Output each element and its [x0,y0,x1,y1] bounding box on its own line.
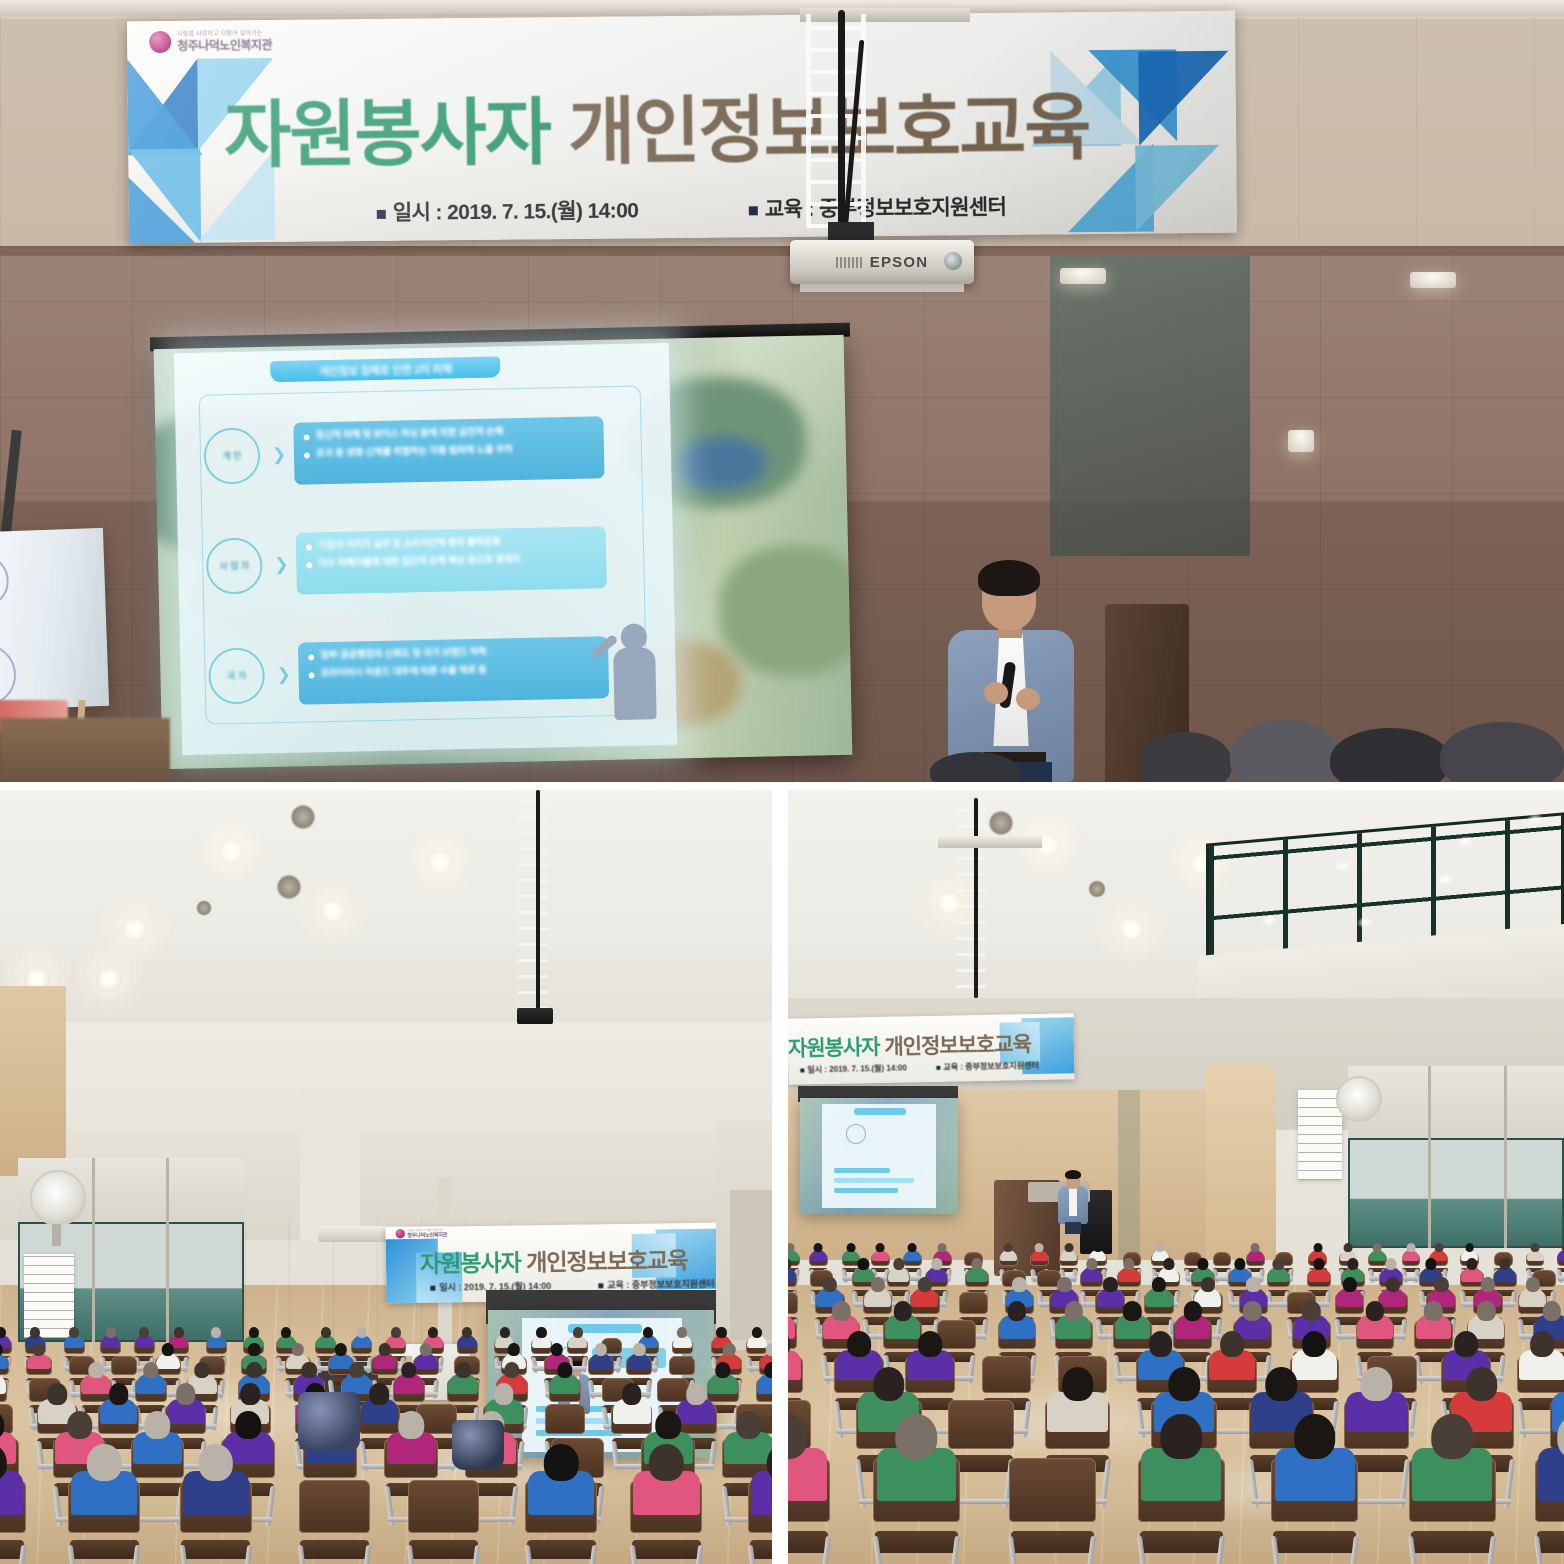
presenter-shirt [1069,1188,1077,1216]
bullet-dot-icon [308,654,314,660]
logo-mark-icon [149,31,171,53]
bullet-square-icon [800,1068,804,1072]
ceiling-soffit [0,0,1564,16]
chevron-right-icon: ❯ [272,445,287,465]
door-panel [730,1190,772,1340]
person-head [655,1411,681,1439]
person [788,1414,827,1498]
chair-seat [1411,1531,1494,1553]
bullet-square-icon [430,1286,435,1291]
person [966,1258,988,1281]
person-head [1543,1301,1561,1321]
panel-hall-wide-view-right: 자원봉사자 개인정보보호교육 일시 : 2019. 7. 15.(월) 14:0… [788,790,1564,1564]
chair-seat [1011,1531,1094,1553]
person-head [1273,1258,1284,1270]
panel-gutter-horizontal [0,782,1564,790]
person-head [677,1327,687,1338]
ceiling-downlight-icon [427,850,453,876]
chair-seat [788,1531,828,1553]
banner-place-line: 교육 : 중부정보보호지원센터 [749,191,1007,223]
person [528,1444,594,1514]
person-head [764,1362,772,1379]
person [1357,1301,1392,1338]
person [1267,1258,1289,1281]
person-head [174,1327,184,1338]
person-head [235,1411,261,1439]
person [627,1343,651,1368]
person-head [321,1327,331,1338]
person-head [1366,1301,1384,1321]
person [633,1444,699,1514]
wall-column [1206,1066,1276,1260]
chair [1009,1458,1096,1564]
person-head [455,1362,470,1379]
person-head [1163,1258,1174,1270]
person-head [870,1277,884,1292]
wall-sconce-icon [1060,268,1106,284]
person-head [896,1414,938,1459]
person-torso [0,1374,6,1394]
wall-fan-icon [1336,1076,1382,1122]
person-torso [751,1471,772,1515]
person-head [89,1362,104,1379]
logo-organization-name: 청주나덕노인복지관 [177,39,272,52]
person [1056,1301,1091,1338]
person-head [814,1243,823,1253]
wall-poster [1298,1090,1342,1180]
person-head [1057,1277,1071,1292]
presenter [1056,1170,1090,1232]
hall-window [1348,1138,1564,1248]
person [1047,1367,1107,1431]
person-head [1425,1258,1436,1270]
person-head [462,1327,472,1338]
person-head [1344,1243,1353,1253]
wall-shadow [1118,1090,1140,1260]
person-head [139,1327,149,1338]
slide-bullet-text: 프라이버시 라운드 대두에 따른 수출 애로 등 [320,665,486,680]
slide-group: 사 업 자 ❯ 기업의 이미지 실추 및 소비자단체 등의 불매운동 다수 피해… [178,522,622,623]
person-head [1434,1277,1448,1292]
person [568,1327,587,1347]
person-head [1266,1367,1297,1401]
person [387,1411,436,1463]
ceiling-beam [0,246,1564,256]
slide-group-badge-label: 사 업 자 [219,561,249,572]
person-head [1313,1258,1324,1270]
logo-organization-name: 청주나덕노인복지관 [407,1232,447,1238]
chair-backrest [408,1480,480,1533]
person [1000,1243,1017,1261]
person [757,1362,772,1393]
person-head [893,1301,911,1321]
projector-mount-plate [938,836,1042,848]
wall-fan-icon [30,1170,86,1226]
slide-person-illustration-icon [607,623,665,720]
person-head [370,1383,390,1404]
person-head [1065,1301,1083,1321]
person-head [1385,1258,1396,1270]
person-head [1465,1243,1474,1253]
person-head [240,1383,260,1404]
logo-mark-icon [396,1229,405,1238]
banner-title-green: 자원봉사자 [224,92,551,176]
bullet-square-icon [936,1066,940,1070]
person-head [1012,1277,1026,1292]
person-head [846,1243,855,1253]
person-head [788,1243,795,1253]
slide-group: 개 인 ❯ 정신적 피해 및 보이스 피싱 등에 의한 금전적 손해 유괴 등 … [175,412,619,513]
person-head [199,1444,233,1481]
person [1209,1331,1255,1379]
person [1538,1414,1564,1498]
chair-seat [1273,1531,1356,1553]
person-head [1149,1331,1173,1357]
bullet-square-icon [749,206,758,215]
presenter-hand [1016,688,1040,710]
person-head [1386,1277,1400,1292]
person [64,1327,83,1347]
person [589,1343,613,1368]
person [1275,1414,1355,1498]
bullet-square-icon [598,1283,603,1288]
person-head [1525,1277,1539,1292]
person-head [1201,1277,1215,1292]
organization-logo: 사람을 사랑하고 더불어 살아가는 청주나덕노인복지관 [149,30,272,53]
person [877,1414,957,1498]
person-head [87,1444,121,1481]
person-head [1373,1243,1382,1253]
person-head [823,1277,837,1292]
chair-backrest [299,1480,371,1533]
person-head [1531,1243,1540,1253]
person [101,1327,120,1347]
person [872,1243,889,1261]
person-head [301,1362,316,1379]
person-head [500,1327,510,1338]
person-head [1197,1258,1208,1270]
projector-vent-icon [836,257,862,268]
bullet-dot-icon [304,434,310,440]
person [1031,1243,1048,1261]
person-head [391,1327,401,1338]
chevron-right-icon: ❯ [276,665,291,685]
person-head [1168,1367,1199,1401]
person-head [557,1362,572,1379]
person-head [1466,1258,1477,1270]
person-head [649,1444,683,1481]
panel-gutter-vertical [772,790,788,1564]
person-head [715,1362,730,1379]
banner-title: 자원봉사자 개인정보보호교육 [420,1241,688,1279]
wall-pilaster [300,1090,360,1240]
person-torso [1538,1448,1564,1501]
person [810,1243,827,1261]
banner-date-line: 일시 : 2019. 7. 15.(월) 14:00 [377,194,639,227]
person-head [1302,1301,1320,1321]
slide-bullet-text: 다수 피해자들에 대한 집단적 손해 배상 등으로 경제적 [318,554,520,570]
ceiling-downlight-icon [1118,916,1144,942]
person-head [1424,1301,1442,1321]
projector-scissor-lift [518,790,548,1010]
presenter-hair [978,560,1040,596]
chair-backrest [111,1356,137,1375]
person-head [938,1243,947,1253]
person [352,1327,371,1347]
window-mullion [1504,1066,1507,1248]
slide-title-bar: 개인정보 침해로 인한 2차 피해 [270,356,500,382]
person [183,1444,249,1514]
person [207,1327,226,1347]
person-torso [788,1350,801,1380]
person-head [504,1362,519,1379]
bullet-dot-icon [304,453,310,459]
chair-backrest [982,1356,1032,1393]
person [999,1301,1034,1338]
ceiling-downlight-icon [218,838,244,864]
person-head [428,1327,438,1338]
chevron-right-icon: ❯ [274,555,289,575]
projector-cable [838,10,845,235]
slide-group-box: 정신적 피해 및 보이스 피싱 등에 의한 금전적 손해 유괴 등 생명·신체를… [293,416,604,484]
banner-place-line: 교육 : 중부정보보호지원센터 [936,1060,1039,1073]
projected-slide: 개인정보 침해로 인한 2차 피해 개 인 ❯ 정신적 피해 및 보이스 피싱 … [174,343,677,755]
ceiling-recess [1050,256,1250,556]
person-head [643,1327,653,1338]
person [27,1343,51,1368]
chair-backrest [959,1292,989,1314]
ceiling-downlight-icon [290,804,316,830]
foreground-audience-silhouettes [0,730,1564,782]
logo-subtitle: 사람을 사랑하고 더불어 살아가는 [177,31,272,38]
person [1402,1243,1419,1261]
person-head [1008,1301,1026,1321]
person-head [858,1258,869,1270]
person-head [544,1444,578,1481]
presenter-hand [984,682,1008,704]
person [373,1343,397,1368]
person-head [67,1411,93,1439]
slide-bullet-text: 유괴 등 생명·신체를 위협하는 각종 범죄에 노출 우려 [316,445,513,461]
projector: EPSON [790,240,974,284]
person-head [1481,1277,1495,1292]
person-head [349,1362,364,1379]
chair-backrest [948,1400,1014,1449]
event-banner: 자원봉사자 개인정보보호교육 일시 : 2019. 7. 15.(월) 14:0… [788,1013,1075,1084]
banner-title: 자원봉사자 개인정보보호교육 [788,1028,1031,1063]
slide-group-badge-label: 개 인 [222,451,241,462]
ceiling-downlight-icon [988,810,1014,836]
chair [299,1480,371,1564]
photo-collage: 사람을 사랑하고 더불어 살아가는 청주나덕노인복지관 자원봉사자 개인정보보호… [0,0,1564,1564]
chair-seat [409,1540,478,1559]
person [0,1362,6,1393]
person [133,1411,182,1463]
person-head [1123,1301,1141,1321]
person-head [357,1327,367,1338]
chair-backrest [545,1404,586,1434]
slide-group: 국 가 ❯ 정부·공공행정의 신뢰도 및 국가 브랜드 하락 프라이버시 라운드… [180,632,624,733]
person-head [1086,1258,1097,1270]
person-head [1064,1243,1073,1253]
projector-scissor-lift [956,798,986,988]
person-head [893,1258,904,1270]
panel-hall-wide-view-left: 사람을 사랑하고 더불어 살아가는 청주나덕노인복지관 자원봉사자 개인정보보호… [0,790,772,1564]
person-head [716,1327,726,1338]
person-head [1234,1258,1245,1270]
slide-bullet-text: 정부·공공행정의 신뢰도 및 국가 브랜드 하락 [320,647,487,662]
ceiling-downlight-icon [1088,880,1106,898]
person-head [494,1383,514,1404]
hall-ceiling [0,790,772,1053]
ceiling-downlight-icon [122,916,148,942]
person-head [1123,1258,1134,1270]
person-head [401,1362,416,1379]
person-head [1160,1414,1202,1459]
person-head [109,1383,129,1404]
person-head [69,1327,79,1338]
bullet-dot-icon [306,544,312,550]
person-head [573,1327,583,1338]
floor-bag [452,1420,504,1470]
person-head [145,1411,171,1439]
person-head [1477,1301,1495,1321]
slide-group-badge: 국 가 [208,647,265,704]
slide-group-box: 기업의 이미지 실추 및 소비자단체 등의 불매운동 다수 피해자들에 대한 집… [296,526,607,594]
window-mullion [92,1158,95,1342]
person-head [766,1343,772,1356]
person-head [247,1362,262,1379]
person-head [30,1327,40,1338]
chair-seat [527,1540,596,1559]
slide-title: 개인정보 침해로 인한 2차 피해 [319,360,452,379]
person [1557,1243,1564,1261]
chair-seat [875,1531,958,1553]
wall-poster [24,1254,74,1338]
person-head [1156,1243,1165,1253]
person [1141,1414,1221,1498]
chair-seat [181,1540,250,1559]
person-head [1431,1414,1473,1459]
person [1527,1243,1544,1261]
slide-group-badge: 사 업 자 [206,537,263,594]
slide-group-badge: 개 인 [203,427,260,484]
person-head [931,1258,942,1270]
person-head [0,1327,6,1338]
chair-seat [70,1540,139,1559]
person [1308,1258,1330,1281]
person-head [143,1362,158,1379]
chair-rail [1557,1276,1564,1281]
person [751,1444,772,1514]
chair-backrest [1009,1458,1096,1522]
person-head [1342,1277,1356,1292]
event-banner: 사람을 사랑하고 더불어 살아가는 청주나덕노인복지관 자원봉사자 개인정보보호… [127,11,1237,244]
person-head [1103,1277,1117,1292]
bullet-dot-icon [309,673,315,679]
person [0,1444,23,1514]
chair-seat [632,1540,701,1559]
person-head [1251,1243,1260,1253]
wall-outlet-icon [1288,430,1314,452]
person-head [908,1243,917,1253]
person-head [1294,1414,1336,1459]
person-head [1313,1243,1322,1253]
banner-title: 자원봉사자 개인정보보호교육 [223,67,1184,182]
person-head [106,1327,116,1338]
person-head [1406,1243,1415,1253]
chair [408,1480,480,1564]
person-head [686,1383,706,1404]
person-head [1093,1243,1102,1253]
banner-date-line: 일시 : 2019. 7. 15.(월) 14:00 [800,1062,907,1075]
slide-group-box: 정부·공공행정의 신뢰도 및 국가 브랜드 하락 프라이버시 라운드 대두에 따… [298,636,609,704]
person-head [1348,1258,1359,1270]
ceiling-downlight-icon [320,898,346,924]
projector-lens-icon [944,252,962,270]
person-head [622,1383,642,1404]
person-head [1466,1367,1497,1401]
person-head [1220,1331,1244,1357]
presenter-hair [1065,1170,1081,1179]
person [1412,1414,1492,1498]
person-head [1454,1331,1478,1357]
bullet-square-icon [377,210,386,219]
wall-sconce-icon [1410,272,1456,288]
person [71,1444,137,1514]
person [1346,1367,1406,1431]
chair-seat [300,1540,369,1559]
person [136,1362,166,1393]
person [457,1327,476,1347]
person-head [918,1277,932,1292]
window-mullion [166,1158,169,1342]
person-head [211,1327,221,1338]
person-head [918,1331,942,1357]
projector-cable [536,790,540,1020]
projection-screen [800,1098,958,1214]
person-head [249,1327,259,1338]
person-torso [788,1267,796,1281]
floor-bag [298,1392,360,1452]
person-head [398,1411,424,1439]
person [550,1362,580,1393]
person-head [1302,1331,1326,1357]
whiteboard-flipchart [0,528,109,710]
slide-bullet-text: 기업의 이미지 실추 및 소비자단체 등의 불매운동 [318,536,501,551]
person [788,1331,801,1379]
person-head [1062,1367,1093,1401]
person-head [281,1327,291,1338]
bullet-dot-icon [306,563,312,569]
ceiling-downlight-icon [276,874,302,900]
person-head [1004,1243,1013,1253]
wall-column [0,986,66,1176]
person-head [972,1258,983,1270]
person-head [176,1383,196,1404]
person [673,1327,692,1347]
person-head [194,1362,209,1379]
slide-bullet-text: 정신적 피해 및 보이스 피싱 등에 의한 금전적 손해 [315,426,503,441]
person-head [876,1243,885,1253]
wall-fan-mount [52,1224,61,1246]
projector-brand-label: EPSON [870,254,929,271]
person-head [736,1411,762,1439]
projector-underside [800,284,964,292]
presenter-trousers [1065,1222,1081,1234]
person-head [1434,1243,1443,1253]
window-mullion [1428,1066,1431,1248]
